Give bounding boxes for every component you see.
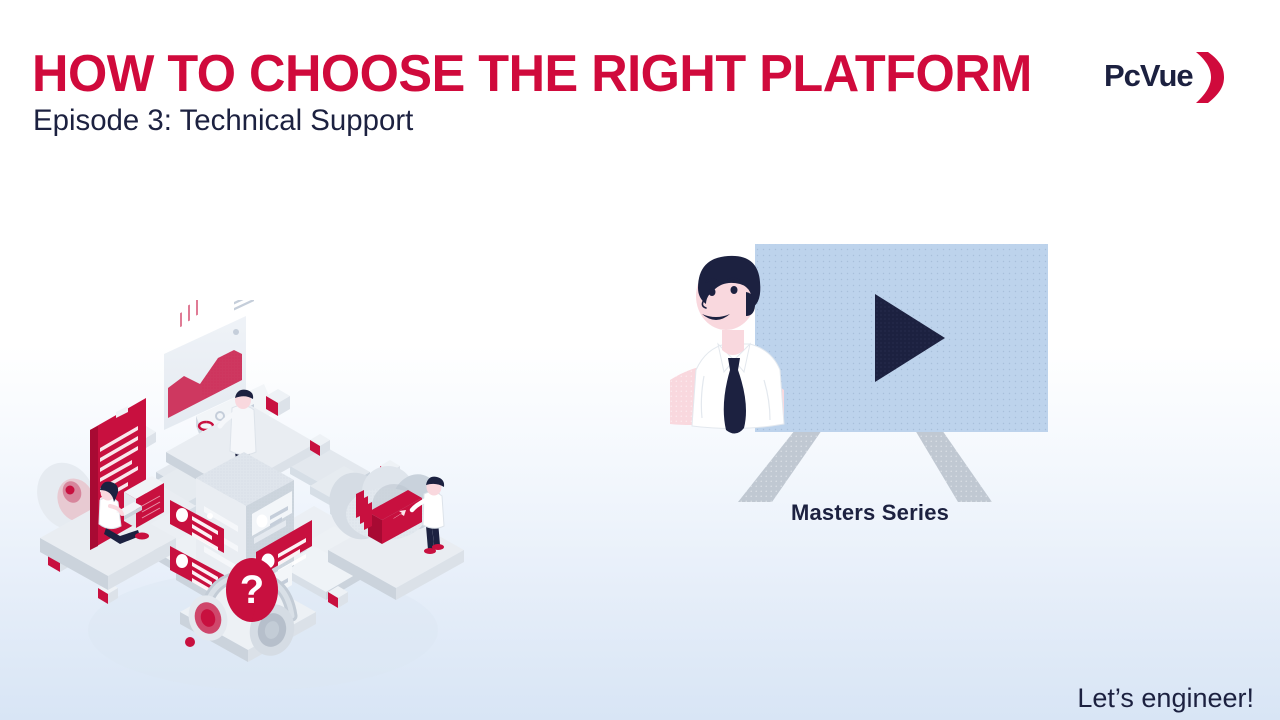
pcvue-wordmark: PcVue: [1104, 58, 1193, 93]
page-title: HOW TO CHOOSE THE RIGHT PLATFORM: [32, 48, 1032, 100]
question-mark-glyph: ?: [240, 568, 264, 612]
pcvue-logo: PcVue: [1104, 50, 1236, 106]
pcvue-logo-svg: PcVue: [1104, 50, 1236, 106]
isometric-scene-svg: ?: [28, 300, 498, 700]
question-mark-bubble: ?: [226, 558, 278, 622]
masters-series-caption: Masters Series: [660, 500, 1080, 526]
chevron-right-icon: [1196, 52, 1224, 103]
slide-header: HOW TO CHOOSE THE RIGHT PLATFORM Episode…: [0, 0, 1280, 160]
easel-legs: [738, 430, 992, 502]
tagline: Let’s engineer!: [1077, 683, 1254, 714]
episode-subtitle: Episode 3: Technical Support: [33, 106, 413, 136]
video-screen[interactable]: [755, 244, 1048, 432]
technical-support-illustration: ?: [28, 300, 498, 700]
